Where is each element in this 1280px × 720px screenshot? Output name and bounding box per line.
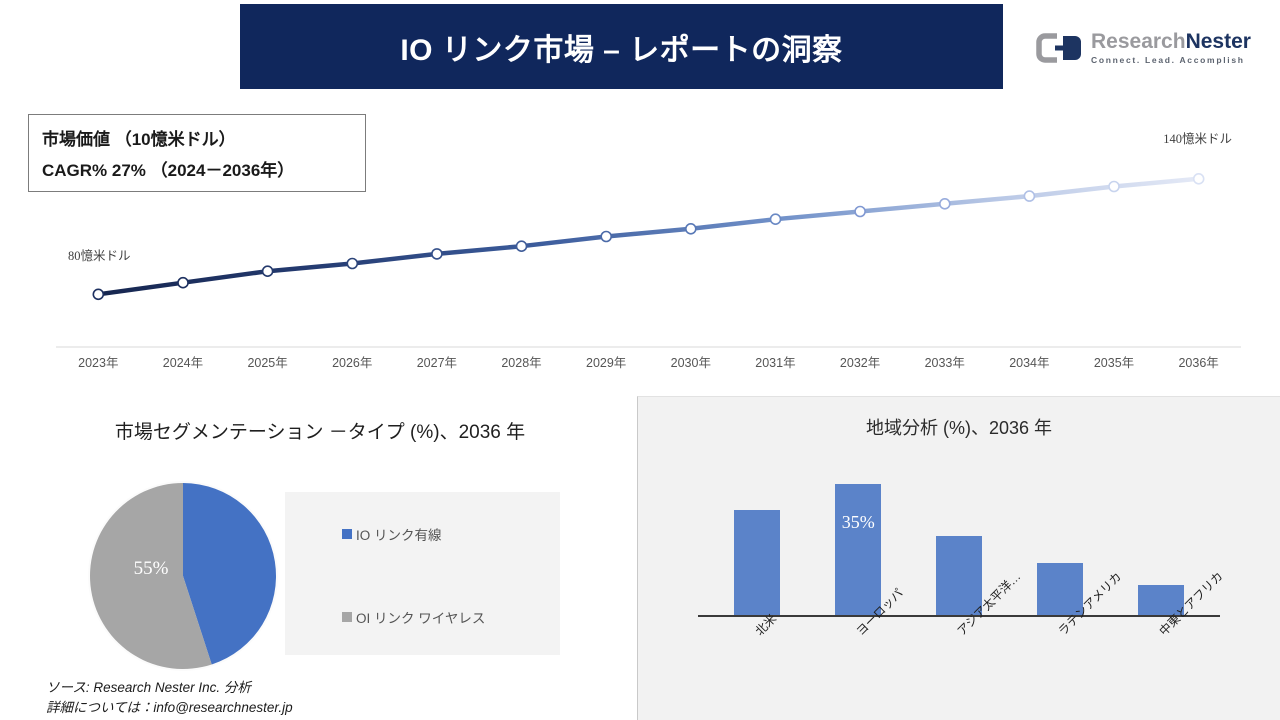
logo-word-nester: Nester <box>1186 30 1251 53</box>
header-band: IO リンク市場 – レポートの洞察 <box>240 4 1003 89</box>
segmentation-title: 市場セグメンテーション －タイプ (%)、2036 年 <box>60 418 580 447</box>
chain-link-icon <box>1036 33 1084 63</box>
logo-tagline: Connect. Lead. Accomplish <box>1091 55 1251 65</box>
line-data-point <box>601 232 611 242</box>
legend-item-wired[interactable]: IO リンク有線 <box>342 524 442 544</box>
logo-wordmark: ResearchNester <box>1091 31 1251 52</box>
logo-word-research: Research <box>1091 30 1186 53</box>
brand-logo: ResearchNester Connect. Lead. Accomplish <box>1036 22 1256 74</box>
x-axis-tick: 2036年 <box>1156 352 1241 371</box>
bar-value-label: 35% <box>835 512 881 533</box>
line-chart-plot <box>0 95 1280 355</box>
contact-line: 詳細については：info@researchnester.jp <box>46 698 293 718</box>
segmentation-pie-chart: 55% <box>87 480 279 672</box>
regional-analysis-title: 地域分析 (%)、2036 年 <box>638 414 1280 440</box>
logo-text: ResearchNester Connect. Lead. Accomplish <box>1091 31 1251 64</box>
line-chart-x-axis: 2023年2024年2025年2026年2027年2028年2029年2030年… <box>56 352 1241 371</box>
x-axis-tick: 2026年 <box>310 352 395 371</box>
line-data-point <box>686 224 696 234</box>
line-data-point <box>1024 191 1034 201</box>
x-axis-tick: 2025年 <box>225 352 310 371</box>
segmentation-legend: IO リンク有線 OI リンク ワイヤレス <box>285 492 560 655</box>
page-title: IO リンク市場 – レポートの洞察 <box>400 25 842 69</box>
bar-chart-baseline <box>698 615 1220 617</box>
bar[interactable] <box>734 510 780 615</box>
legend-label-wired: IO リンク有線 <box>356 524 442 544</box>
source-line: ソース: Research Nester Inc. 分析 <box>46 678 293 698</box>
bar-category-cell: 中東とアフリカ <box>1110 619 1211 714</box>
legend-swatch-wired <box>342 529 352 539</box>
x-axis-tick: 2035年 <box>1072 352 1157 371</box>
line-data-point <box>347 259 357 269</box>
bar[interactable]: 35% <box>835 484 881 615</box>
x-axis-tick: 2031年 <box>733 352 818 371</box>
bar-chart-x-axis: 北米ヨーロッパアジア太平洋…ラテンアメリカ中東とアフリカ <box>707 619 1211 714</box>
market-value-line-chart: 140憶米ドル 80憶米ドル 2023年2024年2025年2026年2027年… <box>0 95 1280 385</box>
bar-category-cell: ヨーロッパ <box>808 619 909 714</box>
source-note: ソース: Research Nester Inc. 分析 詳細については：inf… <box>46 678 293 717</box>
x-axis-tick: 2030年 <box>648 352 733 371</box>
x-axis-tick: 2032年 <box>818 352 903 371</box>
legend-item-wireless[interactable]: OI リンク ワイヤレス <box>342 607 485 627</box>
x-axis-tick: 2033年 <box>902 352 987 371</box>
x-axis-tick: 2029年 <box>564 352 649 371</box>
x-axis-tick: 2034年 <box>987 352 1072 371</box>
bar-cell <box>707 465 808 615</box>
bar-category-cell: 北米 <box>707 619 808 714</box>
pie-slice-label: 55% <box>123 558 179 580</box>
x-axis-tick: 2028年 <box>479 352 564 371</box>
x-axis-tick: 2023年 <box>56 352 141 371</box>
line-data-point <box>178 278 188 288</box>
line-data-point <box>432 249 442 259</box>
line-data-point <box>263 266 273 276</box>
bar-category-cell: アジア太平洋… <box>909 619 1010 714</box>
line-data-point <box>517 241 527 251</box>
x-axis-tick: 2024年 <box>141 352 226 371</box>
line-data-point <box>855 207 865 217</box>
legend-swatch-wireless <box>342 612 352 622</box>
x-axis-tick: 2027年 <box>395 352 480 371</box>
bar-category-cell: ラテンアメリカ <box>1009 619 1110 714</box>
line-data-point <box>1194 174 1204 184</box>
regional-analysis-panel: 地域分析 (%)、2036 年 35% 北米ヨーロッパアジア太平洋…ラテンアメリ… <box>637 396 1280 720</box>
line-data-point <box>1109 182 1119 192</box>
line-data-point <box>940 199 950 209</box>
line-data-point <box>93 289 103 299</box>
line-data-point <box>771 214 781 224</box>
regional-bar-chart: 35% <box>707 465 1211 615</box>
legend-label-wireless: OI リンク ワイヤレス <box>356 607 485 627</box>
